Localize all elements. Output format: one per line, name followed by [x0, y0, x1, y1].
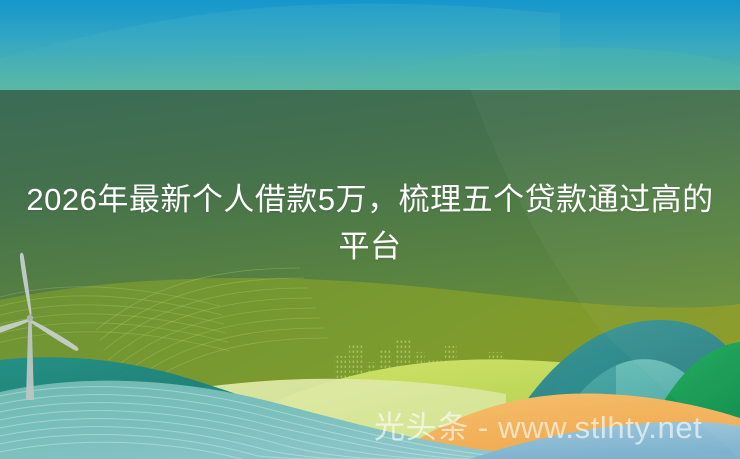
site-watermark: 光头条 - www.stlhty.net — [374, 409, 702, 447]
page-title: 2026年最新个人借款5万，梳理五个贷款通过高的平台 — [0, 176, 740, 270]
wind-turbine-hub — [27, 315, 33, 321]
poster-canvas: 2026年最新个人借款5万，梳理五个贷款通过高的平台 光头条 - www.stl… — [0, 0, 740, 459]
